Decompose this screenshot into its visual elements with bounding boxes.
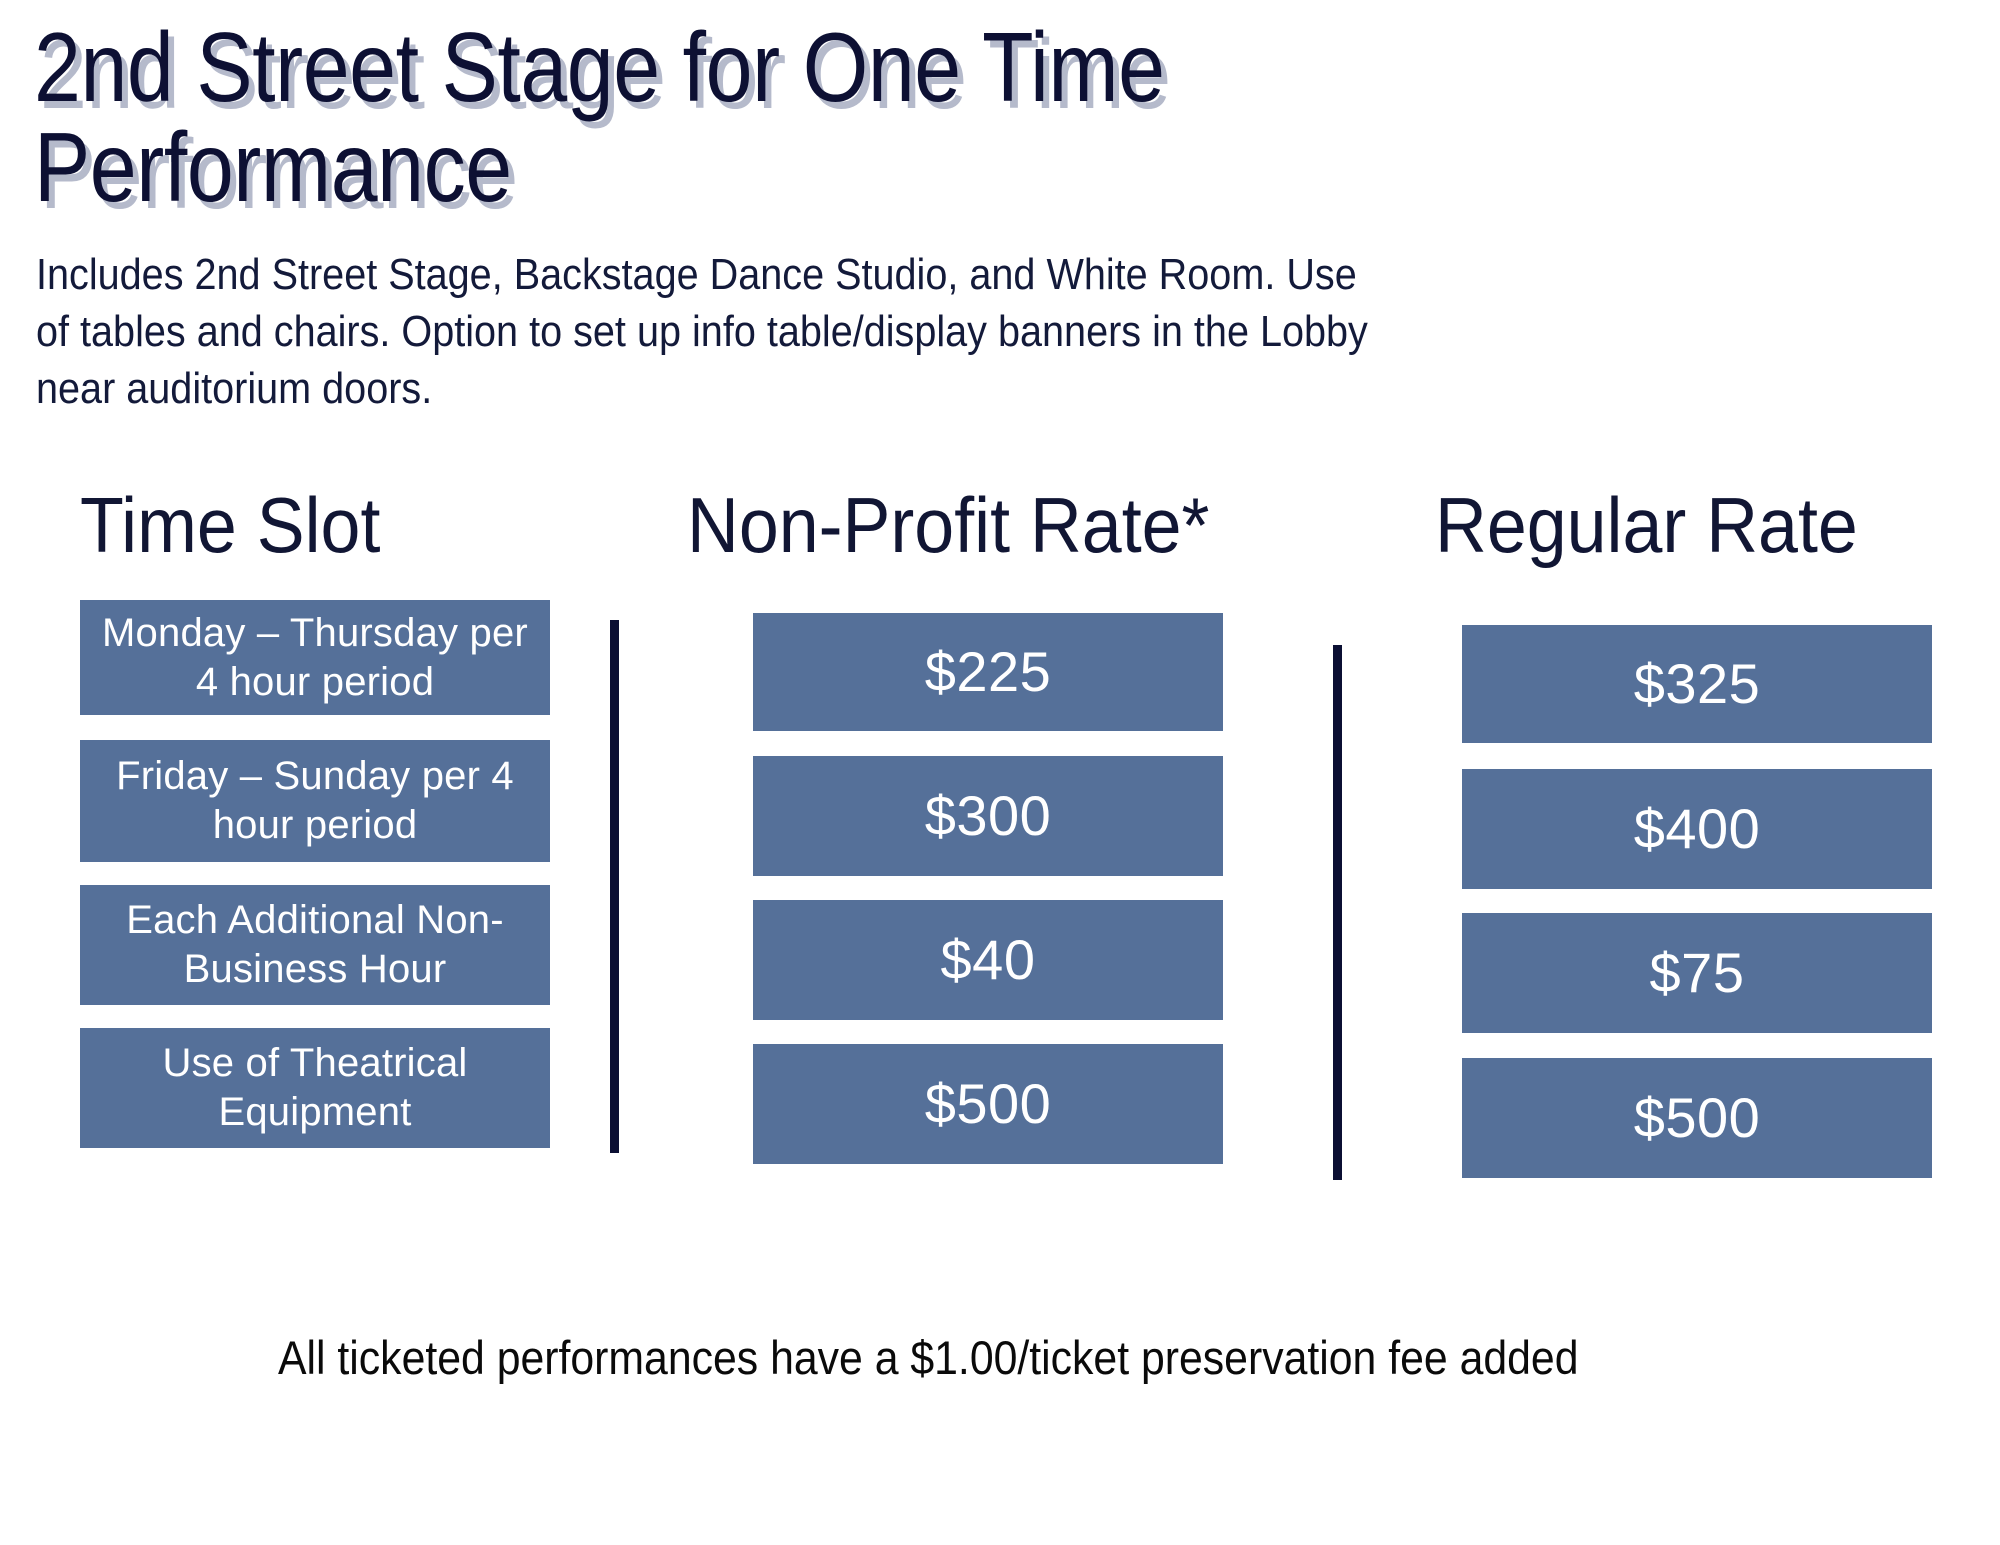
time-slot-label: Each Additional Non-Business Hour: [90, 896, 540, 994]
regular-rate-value: $75: [1650, 945, 1745, 1001]
regular-rate-value: $500: [1634, 1090, 1761, 1146]
non-profit-rate-value: $40: [941, 932, 1036, 988]
non-profit-rate-bar: $300: [753, 756, 1223, 876]
column-divider-right: [1333, 645, 1342, 1180]
time-slot-bar: Monday – Thursday per 4 hour period: [80, 600, 550, 715]
regular-rate-bar: $400: [1462, 769, 1932, 889]
column-header-time-slot: Time Slot: [80, 486, 380, 564]
time-slot-bar: Friday – Sunday per 4 hour period: [80, 740, 550, 862]
regular-rate-value: $325: [1634, 656, 1761, 712]
footer-note: All ticketed performances have a $1.00/t…: [278, 1332, 1789, 1384]
non-profit-rate-bar: $225: [753, 613, 1223, 731]
column-divider-left: [610, 620, 619, 1153]
page-description: Includes 2nd Street Stage, Backstage Dan…: [36, 246, 1386, 418]
time-slot-label: Use of Theatrical Equipment: [90, 1039, 540, 1137]
time-slot-label: Friday – Sunday per 4 hour period: [90, 752, 540, 850]
time-slot-label: Monday – Thursday per 4 hour period: [90, 609, 540, 707]
footnote-asterisk: *: [1182, 481, 1210, 569]
column-header-non-profit-label: Non-Profit Rate: [687, 481, 1182, 569]
non-profit-rate-bar: $500: [753, 1044, 1223, 1164]
regular-rate-value: $400: [1634, 801, 1761, 857]
regular-rate-bar: $75: [1462, 913, 1932, 1033]
non-profit-rate-bar: $40: [753, 900, 1223, 1020]
page-title: 2nd Street Stage for One Time Performanc…: [34, 18, 1341, 218]
regular-rate-bar: $500: [1462, 1058, 1932, 1178]
time-slot-bar: Each Additional Non-Business Hour: [80, 885, 550, 1005]
non-profit-rate-value: $225: [925, 644, 1052, 700]
column-header-regular-rate: Regular Rate: [1435, 486, 1858, 564]
regular-rate-bar: $325: [1462, 625, 1932, 743]
non-profit-rate-value: $500: [925, 1076, 1052, 1132]
time-slot-bar: Use of Theatrical Equipment: [80, 1028, 550, 1148]
pricing-infographic: 2nd Street Stage for One Time Performanc…: [0, 0, 2000, 1545]
column-header-non-profit-rate: Non-Profit Rate*: [687, 486, 1209, 564]
non-profit-rate-value: $300: [925, 788, 1052, 844]
